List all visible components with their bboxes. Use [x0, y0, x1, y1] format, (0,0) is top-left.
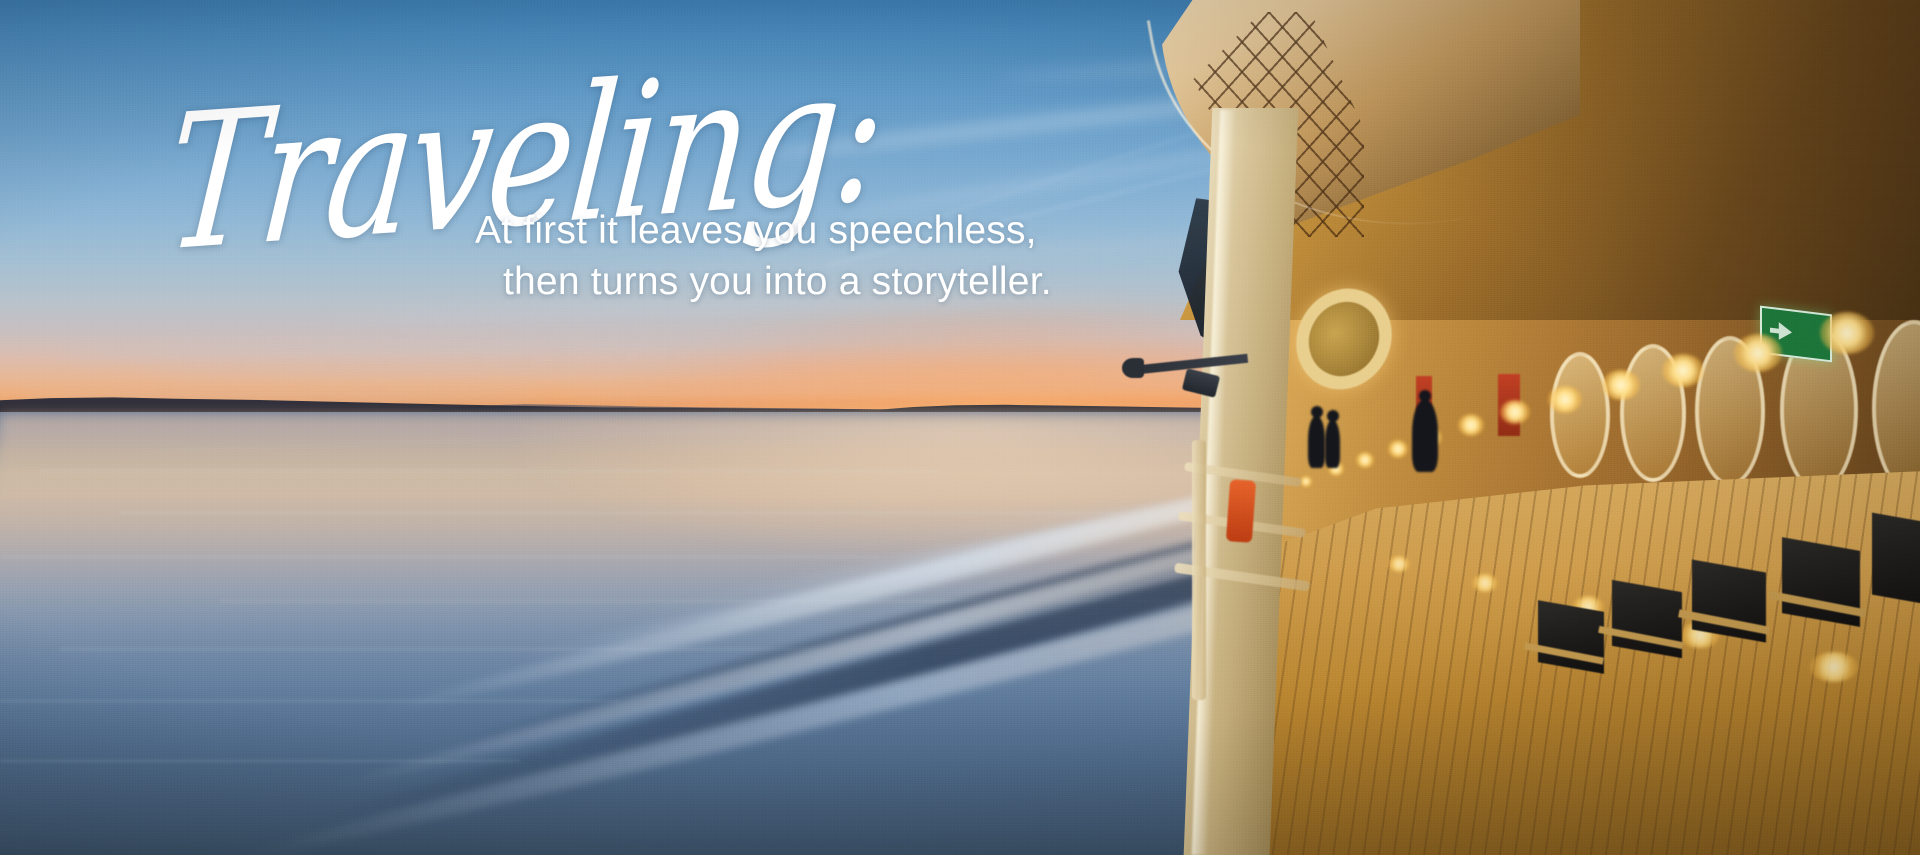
person-head — [1327, 410, 1339, 422]
passenger-silhouette — [1325, 420, 1340, 468]
porthole-window — [1695, 336, 1765, 486]
red-wall-panel — [1498, 374, 1520, 436]
passenger-silhouette — [1308, 416, 1325, 468]
davit-head — [1122, 358, 1144, 378]
porthole-window — [1550, 352, 1610, 478]
cruise-ship-deck — [1120, 0, 1920, 855]
porthole-window — [1620, 344, 1686, 482]
railing-stanchion — [1192, 440, 1206, 700]
person-head — [1311, 406, 1323, 418]
orange-life-ring — [1226, 479, 1256, 543]
deck-lounge-chair — [1872, 513, 1920, 610]
exit-sign — [1760, 306, 1832, 363]
travel-hero-banner: Traveling: At first it leaves you speech… — [0, 0, 1920, 855]
person-head — [1419, 390, 1431, 402]
passenger-silhouette — [1412, 400, 1438, 472]
